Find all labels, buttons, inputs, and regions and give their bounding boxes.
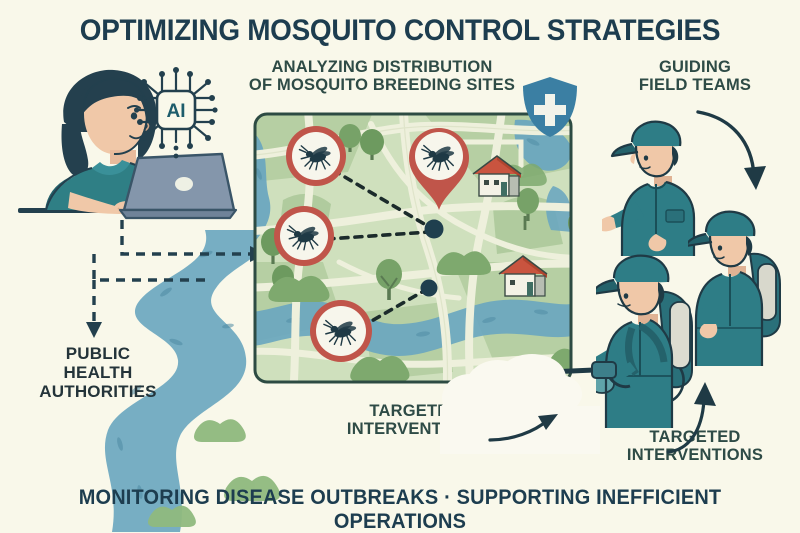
label-guiding-line1: GUIDING bbox=[600, 58, 790, 76]
arrow-targeted-right bbox=[640, 370, 726, 456]
ai-chip-label: AI bbox=[167, 101, 186, 122]
mosquito-marker-circle-bottom[interactable] bbox=[306, 296, 376, 366]
arrow-head bbox=[744, 166, 766, 190]
mosquito-marker-pin-center[interactable] bbox=[403, 122, 475, 212]
label-public-line2: HEALTH bbox=[18, 363, 178, 382]
map-node-upper bbox=[425, 220, 444, 239]
medical-shield-icon bbox=[519, 74, 581, 140]
label-analyzing-line2: OF MOSQUITO BREEDING SITES bbox=[232, 76, 532, 94]
footer-banner: MONITORING DISEASE OUTBREAKS · SUPPORTIN… bbox=[20, 486, 780, 533]
arrow-head-down bbox=[86, 322, 102, 338]
page-title: OPTIMIZING MOSQUITO CONTROL STRATEGIES bbox=[28, 14, 772, 48]
label-analyzing-line1: ANALYZING DISTRIBUTION bbox=[232, 58, 532, 76]
map-node-lower bbox=[421, 280, 438, 297]
label-analyzing-distribution: ANALYZING DISTRIBUTION OF MOSQUITO BREED… bbox=[232, 58, 532, 95]
ai-chip-icon: AI bbox=[134, 66, 218, 162]
label-guiding-field-teams: GUIDING FIELD TEAMS bbox=[600, 58, 790, 95]
arrow-head bbox=[538, 414, 558, 430]
label-guiding-line2: FIELD TEAMS bbox=[600, 76, 790, 94]
arrow-head bbox=[694, 382, 716, 406]
mosquito-marker-circle-mid-left[interactable] bbox=[270, 202, 338, 270]
infographic-canvas: OPTIMIZING MOSQUITO CONTROL STRATEGIES bbox=[0, 0, 800, 532]
label-public-line3: AUTHORITIES bbox=[18, 382, 178, 401]
mosquito-marker-circle-top-left[interactable] bbox=[282, 122, 350, 190]
arrow-targeted-left bbox=[488, 414, 570, 454]
